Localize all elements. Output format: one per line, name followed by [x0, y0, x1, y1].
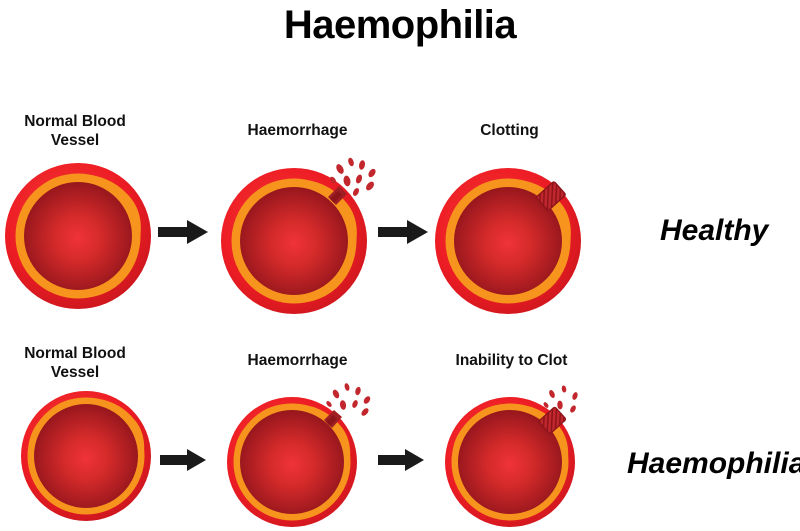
stage-label-r2-c1: Normal Blood Vessel: [0, 344, 150, 382]
stage-label-r1-c3: Clotting: [432, 121, 587, 140]
vessel-lumen: [240, 187, 348, 295]
arrow-right-icon: [378, 220, 428, 244]
arrow-right-icon: [160, 449, 206, 471]
arrow-r2-1: [160, 447, 206, 473]
row-label-healthy: Healthy: [660, 214, 768, 248]
vessel-r2-c1-normal: [20, 390, 152, 522]
vessel-r1-c2-haemorrhage: [220, 155, 380, 315]
diagram-canvas: Haemophilia Normal Blood Vessel Haemorrh…: [0, 0, 800, 531]
page-title: Haemophilia: [0, 0, 800, 48]
arrow-r1-2: [378, 218, 428, 246]
vessel-lumen: [240, 410, 344, 514]
row-label-haemophilia: Haemophilia: [627, 447, 800, 481]
arrow-r2-2: [378, 447, 424, 473]
vessel-r2-c2-haemorrhage: [226, 378, 374, 528]
stage-label-r1-c1: Normal Blood Vessel: [0, 112, 150, 150]
vessel-r1-c1-normal: [4, 162, 152, 310]
vessel-lumen: [24, 182, 132, 290]
vessel-r1-c3-clotting: [434, 155, 594, 315]
arrow-right-icon: [158, 220, 208, 244]
stage-label-r1-c2: Haemorrhage: [220, 121, 375, 140]
stage-label-r2-c3: Inability to Clot: [424, 351, 599, 370]
stage-label-r2-c2: Haemorrhage: [220, 351, 375, 370]
vessel-r2-c3-inability-to-clot: [440, 378, 592, 528]
arrow-r1-1: [158, 218, 208, 246]
vessel-lumen: [34, 404, 138, 508]
arrow-right-icon: [378, 449, 424, 471]
